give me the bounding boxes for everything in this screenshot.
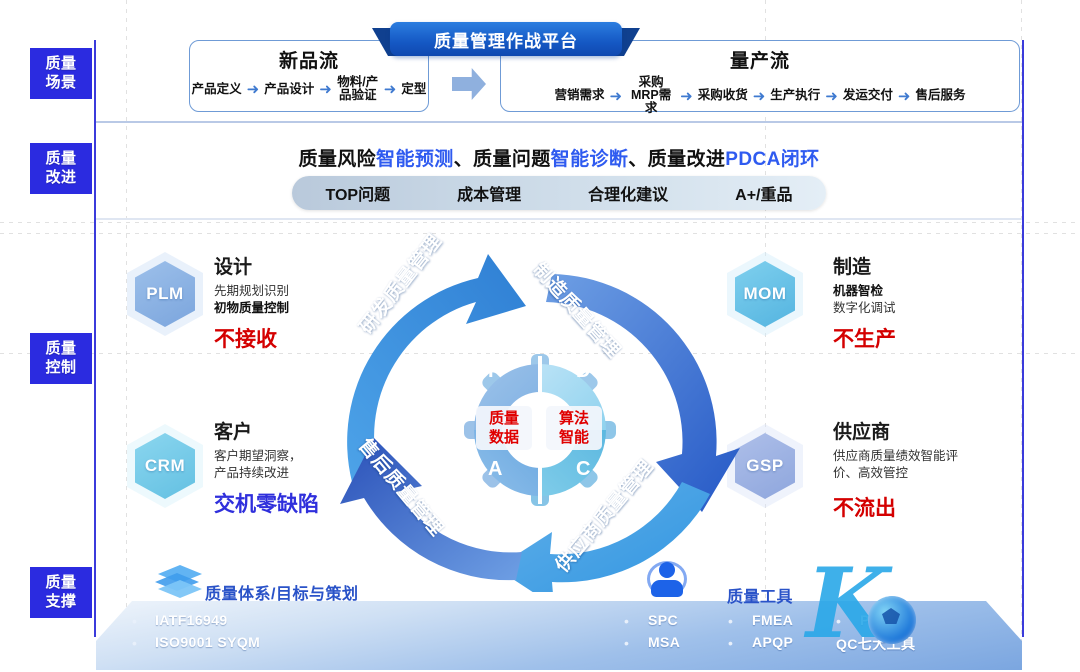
- center-box-quality-data: 质量 数据: [476, 406, 532, 450]
- flow-step: 发运交付: [843, 89, 893, 102]
- support-item: IATF16949: [155, 612, 228, 628]
- flow-step: 采购MRP需求: [627, 76, 675, 115]
- block-title: 供应商: [833, 417, 1018, 444]
- flow-step: 售后服务: [915, 89, 965, 102]
- arrow-icon: ➜: [384, 80, 397, 98]
- support-item: APQP: [752, 634, 793, 650]
- sidebar-item-improve[interactable]: 质量 改进: [30, 143, 92, 194]
- support-item: ISO9001 SYQM: [155, 634, 260, 650]
- block-slogan: 不流出: [833, 492, 1018, 522]
- stage-label-line1: 质量: [30, 339, 92, 358]
- center-box-line1: 算法: [559, 409, 589, 428]
- badge-crm: CRM: [127, 424, 203, 508]
- block-line: 机器智检: [833, 283, 1013, 300]
- block-title: 制造: [833, 252, 1013, 279]
- bullet-icon: •: [132, 635, 137, 651]
- pdca-letter-d: D: [576, 360, 590, 383]
- support-item: SPC: [648, 612, 678, 628]
- arrow-icon: ➜: [753, 87, 766, 105]
- flow-steps-new-product: 产品定义 ➜ 产品设计 ➜ 物料/产品验证 ➜ 定型: [190, 76, 428, 102]
- block-line: 价、高效管控: [833, 465, 1018, 482]
- flow-step: 定型: [401, 83, 426, 96]
- support-item: MSA: [648, 634, 680, 650]
- pdca-gear: P D A C 质量 数据 算法 智能: [448, 350, 632, 510]
- stage-label-line2: 场景: [30, 73, 92, 92]
- stage-label-line1: 质量: [30, 573, 92, 592]
- support-item: FMEA: [752, 612, 793, 628]
- pill-item-top-issues[interactable]: TOP问题: [326, 181, 391, 205]
- sidebar-item-control[interactable]: 质量 控制: [30, 333, 92, 384]
- layers-icon: [155, 565, 205, 599]
- bullet-icon: •: [836, 613, 841, 629]
- stage-label-line1: 质量: [30, 54, 92, 73]
- title-banner: 质量管理作战平台: [372, 22, 640, 58]
- stage-label-line2: 控制: [30, 358, 92, 377]
- arrow-icon: ➜: [898, 87, 911, 105]
- center-box-line2: 数据: [489, 428, 519, 447]
- flow-step: 采购收货: [698, 89, 748, 102]
- arrow-icon: ➜: [319, 80, 332, 98]
- bullet-icon: •: [728, 635, 733, 651]
- flow-step: 产品设计: [264, 83, 314, 96]
- arrow-icon: ➜: [247, 80, 260, 98]
- badge-plm-label: PLM: [127, 252, 203, 336]
- block-line: 供应商质量绩效智能评: [833, 448, 1018, 465]
- pill-item-aplus[interactable]: A+/重品: [735, 181, 792, 205]
- pill-item-cost[interactable]: 成本管理: [457, 181, 521, 205]
- pdca-letter-c: C: [576, 458, 590, 481]
- pill-item-suggestion[interactable]: 合理化建议: [588, 181, 668, 205]
- bullet-icon: •: [624, 635, 629, 651]
- sidebar-item-scene[interactable]: 质量 场景: [30, 48, 92, 99]
- center-box-line2: 智能: [559, 428, 589, 447]
- improvement-headline: 质量风险智能预测、质量问题智能诊断、质量改进PDCA闭环: [94, 144, 1024, 171]
- headline-part: 、质量改进: [628, 149, 725, 170]
- block-slogan: 不生产: [833, 323, 1013, 353]
- headline-part: 、质量问题: [454, 149, 551, 170]
- block-manufacture: 制造 机器智检 数字化调试 不生产: [833, 252, 1013, 353]
- flow-step: 生产执行: [770, 89, 820, 102]
- stage-label-line1: 质量: [30, 149, 92, 168]
- pdca-letter-a: A: [488, 458, 502, 481]
- bullet-icon: •: [728, 613, 733, 629]
- panel-separator-mid: [96, 218, 1022, 220]
- panel-separator-top: [96, 121, 1022, 123]
- support-item: PPAP: [860, 612, 899, 628]
- flow-steps-mass-production: 营销需求 ➜ 采购MRP需求 ➜ 采购收货 ➜ 生产执行 ➜ 发运交付 ➜ 售后…: [501, 76, 1019, 115]
- block-line: 数字化调试: [833, 300, 1013, 317]
- improvement-pill-bar: TOP问题 成本管理 合理化建议 A+/重品: [292, 176, 826, 210]
- support-item: QC七大工具: [836, 634, 915, 654]
- badge-plm: PLM: [127, 252, 203, 336]
- bullet-icon: •: [624, 613, 629, 629]
- block-supplier: 供应商 供应商质量绩效智能评 价、高效管控 不流出: [833, 417, 1018, 522]
- arrow-icon: ➜: [610, 87, 623, 105]
- slide-root: 质量 场景 质量 改进 质量 控制 质量 支撑 质量管理作战平台 新品流 产品定…: [0, 0, 1080, 672]
- arrow-icon: ➜: [680, 87, 693, 105]
- support-heading-tools: 质量工具: [727, 583, 793, 607]
- arrow-icon: ➜: [825, 87, 838, 105]
- people-icon: [647, 562, 687, 598]
- pdca-letter-p: P: [488, 360, 501, 383]
- support-heading-system: 质量体系/目标与策划: [205, 580, 358, 604]
- flow-step: 产品定义: [192, 83, 242, 96]
- headline-part-highlight: PDCA闭环: [725, 149, 819, 170]
- flow-step: 营销需求: [555, 89, 605, 102]
- headline-part: 质量风险: [298, 149, 376, 170]
- sidebar-item-support[interactable]: 质量 支撑: [30, 567, 92, 618]
- center-box-algorithm: 算法 智能: [546, 406, 602, 450]
- headline-part-highlight: 智能预测: [376, 149, 454, 170]
- stage-label-line2: 支撑: [30, 592, 92, 611]
- bullet-icon: •: [132, 613, 137, 629]
- banner-title: 质量管理作战平台: [390, 22, 622, 56]
- badge-crm-label: CRM: [127, 424, 203, 508]
- headline-part-highlight: 智能诊断: [551, 149, 629, 170]
- flow-step: 物料/产品验证: [337, 76, 379, 102]
- center-box-line1: 质量: [489, 409, 519, 428]
- stage-label-line2: 改进: [30, 168, 92, 187]
